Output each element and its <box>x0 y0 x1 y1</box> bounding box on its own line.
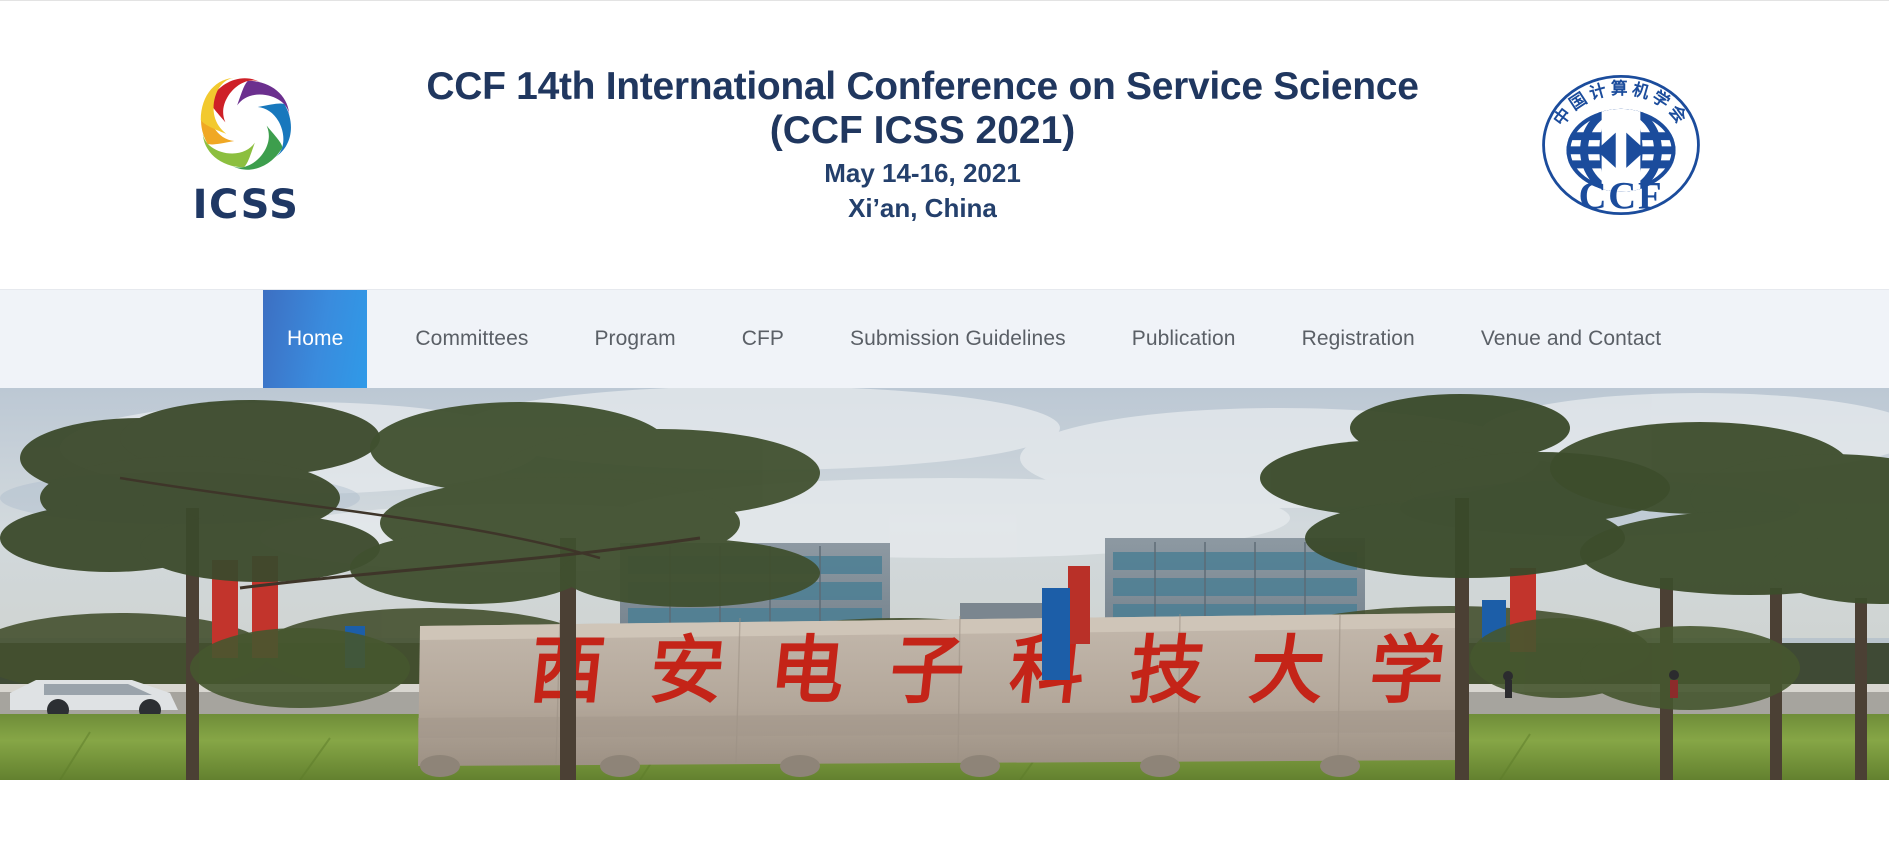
icss-swirl-icon <box>187 65 305 183</box>
icss-logo: ICSS <box>180 65 312 225</box>
nav-item-committees[interactable]: Committees <box>393 290 550 388</box>
nav-item-home[interactable]: Home <box>263 290 367 388</box>
campus-photo: 西安电子科技大学 <box>0 388 1889 780</box>
nav-item-cfp[interactable]: CFP <box>720 290 806 388</box>
svg-text:CCF: CCF <box>1579 174 1664 217</box>
conference-acronym: (CCF ICSS 2021) <box>336 109 1509 154</box>
main-navigation: Home Committees Program CFP Submission G… <box>0 290 1889 388</box>
conference-dates: May 14-16, 2021 <box>336 157 1509 190</box>
stone-monument: 西安电子科技大学 <box>418 613 1495 777</box>
ccf-emblem-icon: 中国计算机学会 CCF <box>1533 57 1709 233</box>
nav-item-venue-and-contact[interactable]: Venue and Contact <box>1459 290 1683 388</box>
nav-item-registration[interactable]: Registration <box>1280 290 1437 388</box>
conference-title-block: CCF 14th International Conference on Ser… <box>330 65 1515 225</box>
monument-inscription: 西安电子科技大学 <box>526 628 1495 714</box>
conference-banner: ICSS CCF 14th International Conference o… <box>0 57 1889 233</box>
hero-image: 西安电子科技大学 <box>0 388 1889 780</box>
icss-logo-label: ICSS <box>193 185 300 225</box>
ccf-logo: 中国计算机学会 CCF <box>1533 57 1709 233</box>
nav-item-publication[interactable]: Publication <box>1110 290 1258 388</box>
conference-title: CCF 14th International Conference on Ser… <box>336 65 1509 109</box>
conference-location: Xi’an, China <box>336 192 1509 225</box>
nav-item-submission-guidelines[interactable]: Submission Guidelines <box>828 290 1088 388</box>
site-header: ICSS CCF 14th International Conference o… <box>0 1 1889 289</box>
nav-item-program[interactable]: Program <box>572 290 697 388</box>
page-bottom-space <box>0 780 1889 862</box>
